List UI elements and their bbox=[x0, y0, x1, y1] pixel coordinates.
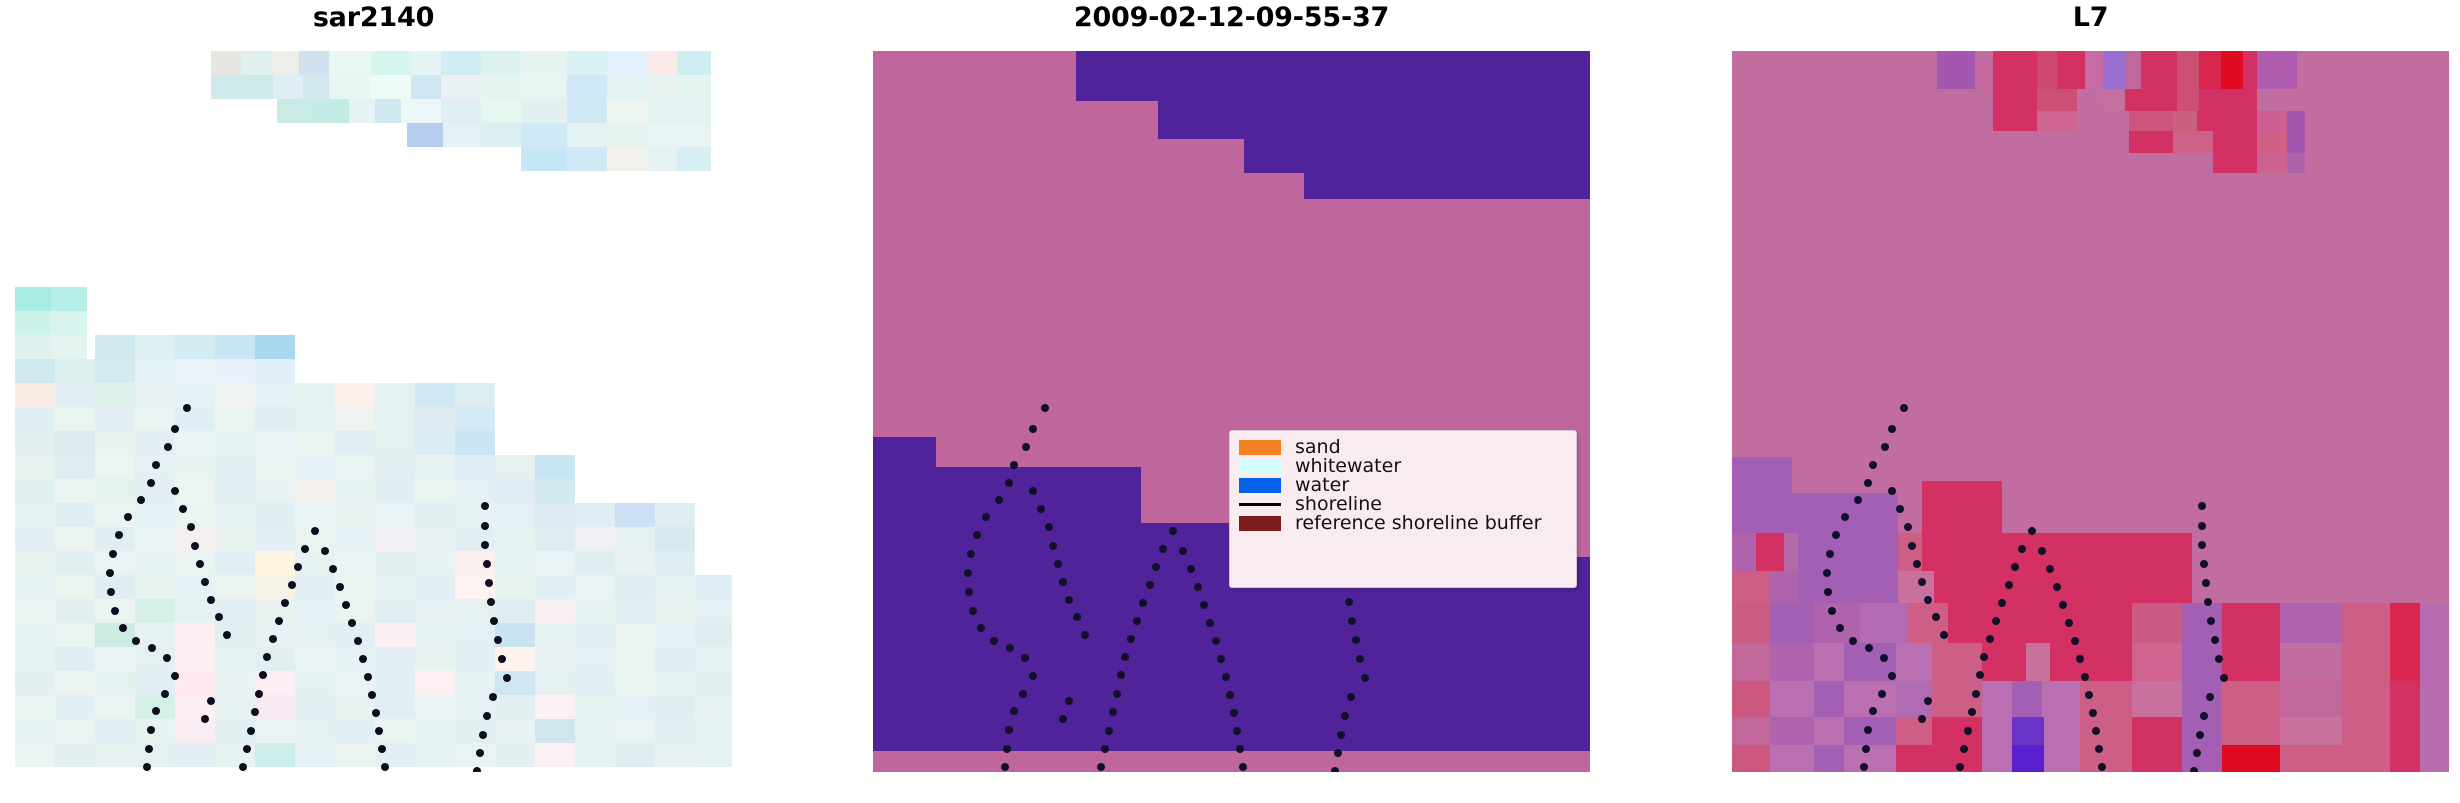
legend-item-sand[interactable]: sand bbox=[1239, 438, 1566, 457]
l7-raster bbox=[1732, 51, 2449, 772]
panel-title-l7: L7 bbox=[1732, 2, 2449, 33]
shoreline-line-icon bbox=[1239, 497, 1281, 512]
legend-label-reference-shoreline-buffer: reference shoreline buffer bbox=[1295, 514, 1541, 533]
panel-classified-scene[interactable] bbox=[873, 51, 1590, 772]
water-swatch bbox=[1239, 478, 1281, 493]
legend-item-reference-shoreline-buffer[interactable]: reference shoreline buffer bbox=[1239, 514, 1566, 533]
panel-l7[interactable] bbox=[1732, 51, 2449, 772]
panel-title-sar2140: sar2140 bbox=[15, 2, 732, 33]
panel-title-scene-date: 2009-02-12-09-55-37 bbox=[873, 2, 1590, 33]
sand-swatch bbox=[1239, 440, 1281, 455]
legend-item-water[interactable]: water bbox=[1239, 476, 1566, 495]
legend-item-whitewater[interactable]: whitewater bbox=[1239, 457, 1566, 476]
whitewater-swatch bbox=[1239, 459, 1281, 474]
reference-shoreline-buffer-swatch bbox=[1239, 516, 1281, 531]
panel-sar2140[interactable] bbox=[15, 51, 732, 772]
sar2140-raster bbox=[15, 51, 732, 772]
figure-canvas: sar2140 bbox=[0, 0, 2460, 803]
map-legend[interactable]: sand whitewater water shoreline referenc… bbox=[1229, 430, 1577, 588]
classified-scene-raster bbox=[873, 51, 1590, 772]
